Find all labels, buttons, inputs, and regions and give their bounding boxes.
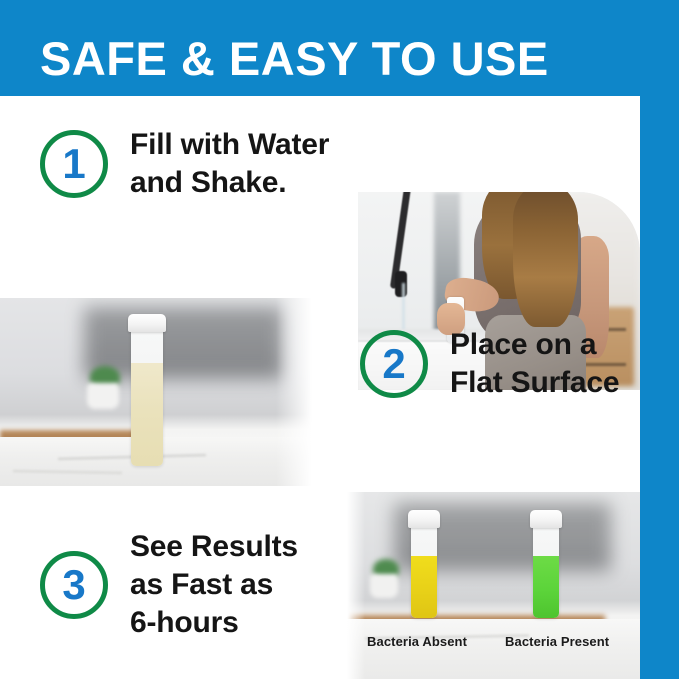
- step-2-block: 2 Place on a Flat Surface: [360, 326, 619, 402]
- photo-3-plant-pot: [370, 574, 398, 598]
- photo-2-vial-liquid: [131, 363, 162, 466]
- absent-vial-cap: [408, 510, 440, 528]
- absent-vial-liquid-yellow: [411, 556, 437, 618]
- photo-2-vial-cap: [128, 314, 166, 332]
- step-3-block: 3 See Results as Fast as 6-hours: [40, 528, 298, 642]
- bacteria-absent-caption: Bacteria Absent: [367, 634, 467, 649]
- step-2-badge: 2: [360, 330, 428, 398]
- step-3-text: See Results as Fast as 6-hours: [130, 528, 298, 642]
- photo-2-test-vial: [128, 314, 166, 466]
- photo-3-left-fade: [347, 492, 365, 679]
- step-row-3: 3 See Results as Fast as 6-hours: [0, 490, 679, 679]
- photo-3-counter: [347, 619, 640, 679]
- step-row-1: 1 Fill with Water and Shake.: [0, 96, 679, 296]
- step-1-text: Fill with Water and Shake.: [130, 126, 329, 202]
- photo-2-plant-pot: [87, 383, 119, 409]
- step-1-block: 1 Fill with Water and Shake.: [40, 126, 329, 202]
- bacteria-present-caption: Bacteria Present: [505, 634, 609, 649]
- photo-2-right-fade: [276, 298, 322, 486]
- absent-vial-tube: [411, 526, 437, 618]
- present-vial-liquid-green: [533, 556, 559, 618]
- page-title: SAFE & EASY TO USE: [40, 33, 549, 85]
- header-banner: SAFE & EASY TO USE: [0, 0, 679, 96]
- bacteria-absent-vial: [408, 510, 440, 618]
- photo-2-vial-tube: [131, 330, 162, 466]
- step-2-text: Place on a Flat Surface: [450, 326, 619, 402]
- step-3-photo: Bacteria Absent Bacteria Present: [347, 492, 640, 679]
- step-row-2: 2 Place on a Flat Surface: [0, 298, 679, 488]
- bacteria-present-vial: [530, 510, 562, 618]
- step-1-badge: 1: [40, 130, 108, 198]
- present-vial-cap: [530, 510, 562, 528]
- present-vial-tube: [533, 526, 559, 618]
- infographic-root: SAFE & EASY TO USE 1 Fill with Water and…: [0, 0, 679, 679]
- step-3-badge: 3: [40, 551, 108, 619]
- step-2-photo: [0, 298, 322, 486]
